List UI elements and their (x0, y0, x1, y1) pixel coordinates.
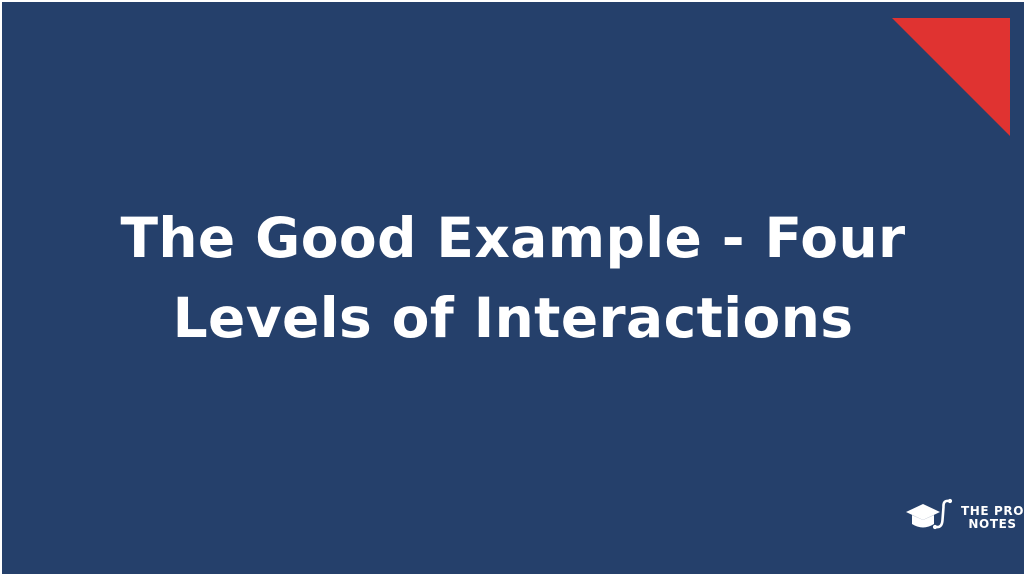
corner-triangle (892, 18, 1010, 136)
title-line-2: Levels of Interactions (92, 278, 934, 358)
integral-top-dot (948, 499, 952, 503)
slide-canvas: The Good Example - Four Levels of Intera… (0, 0, 1024, 576)
integral-bottom-dot (933, 525, 937, 529)
mortarboard-top (906, 504, 940, 520)
title-line-1: The Good Example - Four (92, 198, 934, 278)
graduation-cap-icon (905, 495, 957, 537)
slide-background: The Good Example - Four Levels of Intera… (2, 2, 1024, 574)
corner-triangle-shape (892, 18, 1010, 136)
page-title: The Good Example - Four Levels of Intera… (2, 198, 1024, 359)
brand-wordmark-line-2: NOTES (968, 518, 1016, 531)
integral-curve-icon (936, 501, 949, 527)
brand-logo: THE PRO NOTES (905, 494, 1017, 538)
brand-wordmark: THE PRO NOTES (961, 502, 1024, 530)
brand-wordmark-line-1: THE PRO (961, 505, 1024, 518)
